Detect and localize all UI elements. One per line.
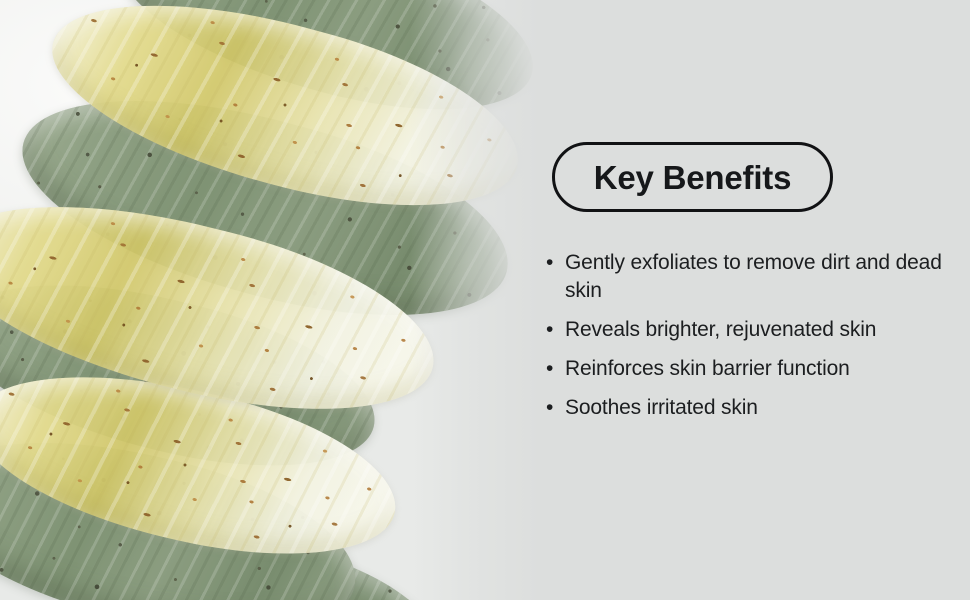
bullet-icon: • — [546, 394, 553, 422]
product-photo — [0, 0, 540, 600]
content-panel: Key Benefits • Gently exfoliates to remo… — [520, 0, 970, 600]
bullet-icon: • — [546, 316, 553, 344]
benefits-list: • Gently exfoliates to remove dirt and d… — [545, 249, 955, 422]
benefit-item: • Reinforces skin barrier function — [545, 355, 955, 383]
benefit-text: Gently exfoliates to remove dirt and dea… — [565, 251, 942, 302]
benefit-text: Soothes irritated skin — [565, 396, 758, 419]
benefit-text: Reinforces skin barrier function — [565, 357, 850, 380]
bullet-icon: • — [546, 355, 553, 383]
benefit-item: • Gently exfoliates to remove dirt and d… — [545, 249, 955, 305]
benefit-item: • Reveals brighter, rejuvenated skin — [545, 316, 955, 344]
benefit-item: • Soothes irritated skin — [545, 394, 955, 422]
key-benefits-badge: Key Benefits — [552, 142, 833, 212]
bullet-icon: • — [546, 249, 553, 277]
key-benefits-banner: Key Benefits • Gently exfoliates to remo… — [0, 0, 970, 600]
key-benefits-title: Key Benefits — [594, 161, 792, 194]
benefit-text: Reveals brighter, rejuvenated skin — [565, 318, 876, 341]
